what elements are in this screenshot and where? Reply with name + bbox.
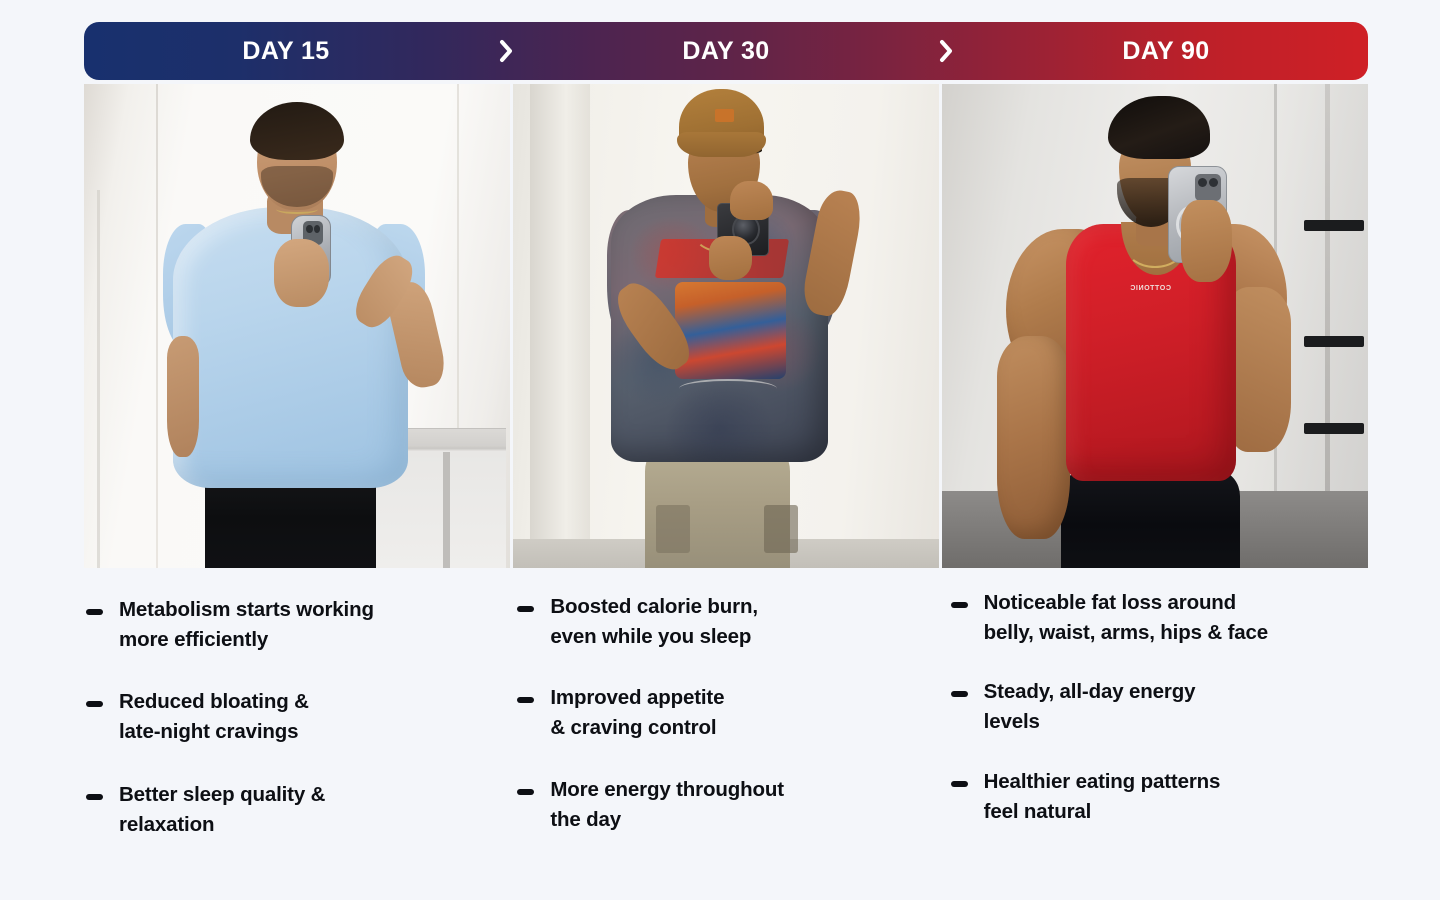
wall-bracket (1304, 423, 1364, 435)
wall-bracket (1304, 220, 1364, 232)
benefits-section: Metabolism starts working more efficient… (84, 588, 1368, 872)
cargo-pocket-right (764, 505, 798, 553)
benefit-text: Steady, all-day energy levels (984, 677, 1196, 737)
dash-bullet-icon (517, 789, 534, 795)
progress-photo-day-90: COTTONIC (942, 84, 1368, 568)
person-shorts (1061, 471, 1240, 568)
wall-seam (97, 190, 100, 568)
benefit-text: Healthier eating patterns feel natural (984, 767, 1221, 827)
timeline-stage-label: DAY 30 (682, 39, 769, 64)
tank-top-brand-logo: COTTONIC (1112, 282, 1189, 295)
benefit-item: Reduced bloating & late-night cravings (86, 687, 493, 747)
dash-bullet-icon (951, 602, 968, 608)
person-arm-left (167, 336, 199, 457)
dash-bullet-icon (86, 701, 103, 707)
dash-bullet-icon (86, 794, 103, 800)
benefit-text: Better sleep quality & relaxation (119, 780, 325, 840)
timeline-stage-day-90[interactable]: DAY 90 (964, 22, 1368, 80)
benefit-item: Better sleep quality & relaxation (86, 780, 493, 840)
phone-camera-module-icon (1195, 174, 1221, 201)
person-arm-left (997, 336, 1069, 539)
timeline-stage-label: DAY 15 (242, 39, 329, 64)
dash-bullet-icon (517, 606, 534, 612)
benefit-text: Metabolism starts working more efficient… (119, 595, 374, 655)
progress-photo-day-30 (513, 84, 939, 568)
timeline-progress-bar: DAY 15 DAY 30 DAY 90 (84, 22, 1368, 80)
progress-photo-strip: COTTONIC (84, 84, 1368, 568)
dash-bullet-icon (86, 609, 103, 615)
benefit-text: Boosted calorie burn, even while you sle… (550, 592, 758, 652)
benefit-item: Metabolism starts working more efficient… (86, 595, 493, 655)
benefit-item: Noticeable fat loss around belly, waist,… (951, 588, 1358, 648)
benefits-column-day-90: Noticeable fat loss around belly, waist,… (935, 588, 1368, 872)
dash-bullet-icon (951, 691, 968, 697)
beanie-cuff (677, 132, 766, 156)
benefit-text: More energy throughout the day (550, 775, 784, 835)
tee-print-graphic (675, 282, 786, 379)
progress-photo-day-15 (84, 84, 510, 568)
timeline-stage-label: DAY 90 (1122, 39, 1209, 64)
benefit-item: Boosted calorie burn, even while you sle… (517, 592, 924, 652)
cargo-pocket-left (656, 505, 690, 553)
table-leg (443, 452, 450, 568)
benefit-item: Steady, all-day energy levels (951, 677, 1358, 737)
person-hand-left (709, 236, 752, 280)
timeline-stage-day-30[interactable]: DAY 30 (524, 22, 928, 80)
beanie-brand-tag (715, 109, 734, 122)
dash-bullet-icon (951, 781, 968, 787)
benefits-column-day-30: Boosted calorie burn, even while you sle… (503, 588, 934, 872)
tee-print-script (679, 379, 777, 398)
person-hand (274, 239, 329, 307)
dash-bullet-icon (517, 697, 534, 703)
chevron-right-icon (928, 22, 964, 80)
benefit-text: Noticeable fat loss around belly, waist,… (984, 588, 1268, 648)
wall-column (530, 84, 590, 568)
person-hand-right (730, 181, 773, 220)
benefit-item: More energy throughout the day (517, 775, 924, 835)
benefits-column-day-15: Metabolism starts working more efficient… (84, 588, 503, 872)
person-hand (1181, 200, 1232, 282)
benefit-item: Healthier eating patterns feel natural (951, 767, 1358, 827)
benefit-item: Improved appetite & craving control (517, 683, 924, 743)
benefit-text: Improved appetite & craving control (550, 683, 724, 743)
chevron-right-icon (488, 22, 524, 80)
wall-seam (156, 84, 158, 568)
benefit-text: Reduced bloating & late-night cravings (119, 687, 309, 747)
wall-bracket (1304, 336, 1364, 348)
transformation-timeline-page: DAY 15 DAY 30 DAY 90 (0, 0, 1440, 900)
timeline-stage-day-15[interactable]: DAY 15 (84, 22, 488, 80)
